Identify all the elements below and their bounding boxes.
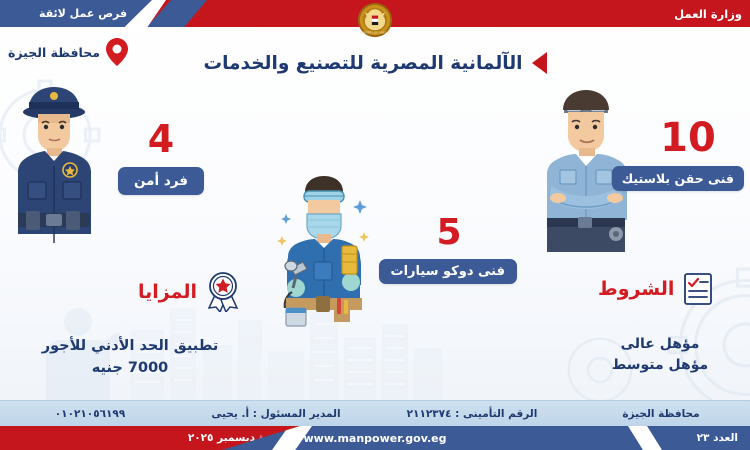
info-insurance-number: الرقم التأمينى : ٢١١٢٣٧٤ — [372, 408, 572, 420]
job-label-plastic[interactable]: فنى حقن بلاستيك — [612, 166, 744, 191]
decent-work-label: فرص عمل لائقة — [25, 7, 127, 20]
company-title-row: الآلمانية المصرية للتصنيع والخدمات — [0, 52, 750, 74]
footer-issue-label: العدد ٢٣ — [697, 432, 738, 444]
footer-issue-wrap: العدد ٢٣ — [697, 426, 738, 450]
info-bar: محافظة الجيزة الرقم التأمينى : ٢١١٢٣٧٤ ا… — [0, 400, 750, 426]
benefits-line-1: تطبيق الحد الأدني للأجور — [20, 336, 240, 358]
conditions-line-1: مؤهل عالى — [580, 334, 740, 355]
triangle-marker-icon — [532, 52, 547, 74]
benefits-title: المزايا — [138, 281, 197, 303]
job-block-security: 4 فرد أمن — [103, 120, 219, 195]
job-block-plastic: 10 فنى حقن بلاستيك — [632, 118, 744, 191]
conditions-title: الشروط — [598, 278, 674, 300]
job-label-security[interactable]: فرد أمن — [118, 167, 204, 195]
info-governorate: محافظة الجيزة — [572, 408, 750, 420]
award-ribbon-icon — [206, 272, 240, 312]
infographic-poster: فرص عمل لائقة وزارة العمل MINISTRY OF LA… — [0, 0, 750, 450]
conditions-header: الشروط — [598, 272, 713, 306]
job-label-duco[interactable]: فنى دوكو سيارات — [379, 259, 517, 284]
footer-bar: www.manpower.gov.eg نشرة ديسمبر ٢٠٢٥ الع… — [0, 426, 750, 450]
benefits-header: المزايا — [138, 272, 240, 312]
ministry-label-wrap: وزارة العمل — [674, 0, 742, 27]
checklist-icon — [683, 272, 713, 306]
benefits-line-2: 7000 جنيه — [20, 358, 240, 380]
job-count-duco: 5 — [381, 215, 517, 251]
ministry-label: وزارة العمل — [674, 7, 742, 21]
conditions-body: مؤهل عالى مؤهل متوسط — [580, 334, 740, 376]
page-title: الآلمانية المصرية للتصنيع والخدمات — [204, 53, 523, 74]
job-count-plastic: 10 — [632, 118, 744, 158]
info-phone[interactable]: ٠١٠٢١٠٥٦١٩٩ — [0, 408, 180, 420]
job-count-security: 4 — [103, 120, 219, 158]
info-manager: المدير المسئول : أ. يحيى — [180, 408, 372, 420]
egypt-eagle-emblem-icon: MINISTRY OF LABOUR — [356, 1, 394, 39]
security-guard-illustration — [2, 78, 107, 243]
job-block-duco: 5 فنى دوكو سيارات — [381, 215, 517, 284]
svg-text:MINISTRY OF LABOUR: MINISTRY OF LABOUR — [360, 30, 391, 34]
conditions-line-2: مؤهل متوسط — [580, 355, 740, 376]
car-painter-illustration — [272, 170, 376, 328]
benefits-body: تطبيق الحد الأدني للأجور 7000 جنيه — [20, 336, 240, 380]
